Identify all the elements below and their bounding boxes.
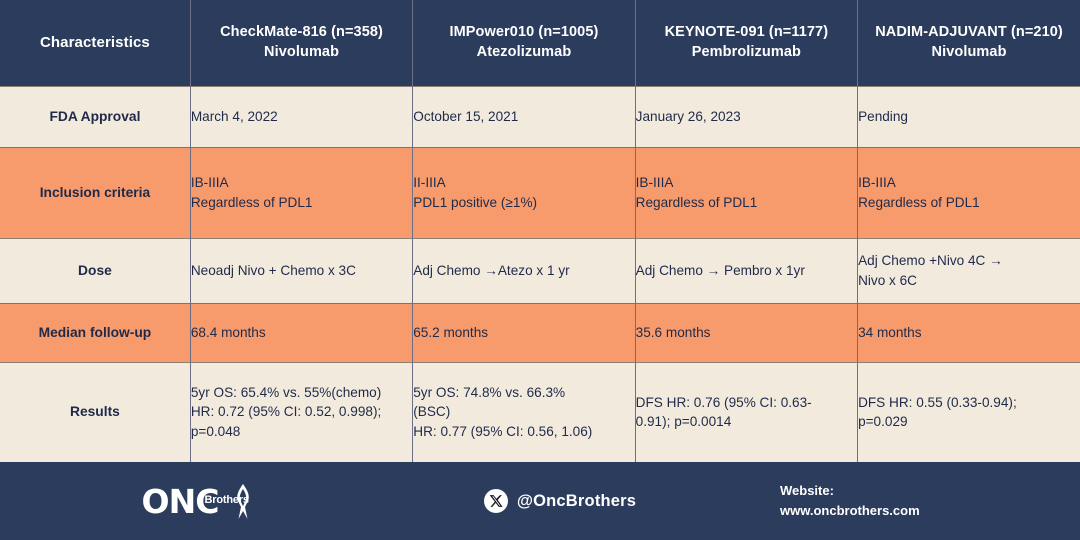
- cell-line: HR: 0.72 (95% CI: 0.52, 0.998);: [191, 402, 412, 422]
- x-twitter-icon[interactable]: [484, 489, 508, 513]
- cell-line: IB-IIIA: [858, 173, 1080, 193]
- header-line-2: Pembrolizumab: [636, 43, 857, 63]
- cell-line: p=0.029: [858, 412, 1080, 432]
- cell-line: Regardless of PDL1: [191, 193, 412, 213]
- table-row-dose: Dose Neoadj Nivo + Chemo x 3C Adj Chemo …: [0, 238, 1080, 303]
- footer-bar: ONC Brothers @OncBrothers Website: www: [0, 462, 1080, 540]
- cell-followup-impower010: 65.2 months: [413, 303, 635, 362]
- header-line-2: Atezolizumab: [413, 43, 634, 63]
- column-header-impower010: IMPower010 (n=1005) Atezolizumab: [413, 0, 635, 86]
- header-row: Characteristics CheckMate-816 (n=358) Ni…: [0, 0, 1080, 86]
- table-header: Characteristics CheckMate-816 (n=358) Ni…: [0, 0, 1080, 86]
- awareness-ribbon-icon: [230, 482, 256, 527]
- column-header-keynote-091: KEYNOTE-091 (n=1177) Pembrolizumab: [635, 0, 857, 86]
- cell-dose-keynote091: Adj Chemo → Pembro x 1yr: [635, 238, 857, 303]
- column-header-characteristics: Characteristics: [0, 0, 190, 86]
- cell-line: Adj Chemo +Nivo 4C →: [858, 251, 1080, 271]
- cell-results-impower010: 5yr OS: 74.8% vs. 66.3% (BSC) HR: 0.77 (…: [413, 362, 635, 462]
- cell-line: 5yr OS: 74.8% vs. 66.3%: [413, 383, 634, 403]
- cell-line: 68.4 months: [191, 323, 412, 343]
- cell-line: (BSC): [413, 402, 634, 422]
- comparison-table-infographic: Characteristics CheckMate-816 (n=358) Ni…: [0, 0, 1080, 540]
- cell-line: 35.6 months: [636, 323, 857, 343]
- header-line-2: Nivolumab: [858, 43, 1080, 63]
- header-line-1: Characteristics: [0, 33, 190, 53]
- cell-line: IB-IIIA: [636, 173, 857, 193]
- cell-inclusion-keynote091: IB-IIIA Regardless of PDL1: [635, 147, 857, 238]
- cell-line: Adj Chemo → Pembro x 1yr: [636, 261, 857, 281]
- row-label-inclusion-criteria: Inclusion criteria: [0, 147, 190, 238]
- oncbrothers-logo: ONC Brothers: [142, 481, 219, 521]
- cell-inclusion-impower010: II-IIIA PDL1 positive (≥1%): [413, 147, 635, 238]
- header-line-1: NADIM-ADJUVANT (n=210): [858, 23, 1080, 43]
- footer-website-area[interactable]: Website: www.oncbrothers.com: [760, 481, 1080, 521]
- cell-line: 5yr OS: 65.4% vs. 55%(chemo): [191, 383, 412, 403]
- cell-fda-impower010: October 15, 2021: [413, 86, 635, 147]
- cell-line: DFS HR: 0.55 (0.33-0.94);: [858, 393, 1080, 413]
- column-header-nadim-adjuvant: NADIM-ADJUVANT (n=210) Nivolumab: [858, 0, 1080, 86]
- cell-line: Adj Chemo →Atezo x 1 yr: [413, 261, 634, 281]
- cell-line: DFS HR: 0.76 (95% CI: 0.63-: [636, 393, 857, 413]
- cell-line: 0.91); p=0.0014: [636, 412, 857, 432]
- x-handle-text: @OncBrothers: [517, 492, 636, 511]
- footer-social-handle[interactable]: @OncBrothers: [360, 489, 760, 513]
- table-row-inclusion-criteria: Inclusion criteria IB-IIIA Regardless of…: [0, 147, 1080, 238]
- cell-line: PDL1 positive (≥1%): [413, 193, 634, 213]
- header-line-1: KEYNOTE-091 (n=1177): [636, 23, 857, 43]
- row-label-dose: Dose: [0, 238, 190, 303]
- cell-line: March 4, 2022: [191, 107, 412, 127]
- cell-inclusion-checkmate816: IB-IIIA Regardless of PDL1: [190, 147, 412, 238]
- cell-fda-checkmate816: March 4, 2022: [190, 86, 412, 147]
- table-row-median-follow-up: Median follow-up 68.4 months 65.2 months…: [0, 303, 1080, 362]
- cell-line: 65.2 months: [413, 323, 634, 343]
- website-label: Website:: [780, 481, 920, 501]
- header-line-2: Nivolumab: [191, 43, 412, 63]
- cell-line: p=0.048: [191, 422, 412, 442]
- row-label-results: Results: [0, 362, 190, 462]
- cell-line: IB-IIIA: [191, 173, 412, 193]
- row-label-median-follow-up: Median follow-up: [0, 303, 190, 362]
- table-row-results: Results 5yr OS: 65.4% vs. 55%(chemo) HR:…: [0, 362, 1080, 462]
- cell-fda-keynote091: January 26, 2023: [635, 86, 857, 147]
- cell-dose-nadim: Adj Chemo +Nivo 4C → Nivo x 6C: [858, 238, 1080, 303]
- header-line-1: CheckMate-816 (n=358): [191, 23, 412, 43]
- cell-followup-keynote091: 35.6 months: [635, 303, 857, 362]
- cell-followup-checkmate816: 68.4 months: [190, 303, 412, 362]
- cell-followup-nadim: 34 months: [858, 303, 1080, 362]
- cell-fda-nadim: Pending: [858, 86, 1080, 147]
- cell-results-checkmate816: 5yr OS: 65.4% vs. 55%(chemo) HR: 0.72 (9…: [190, 362, 412, 462]
- cell-line: 34 months: [858, 323, 1080, 343]
- cell-results-nadim: DFS HR: 0.55 (0.33-0.94); p=0.029: [858, 362, 1080, 462]
- cell-line: Regardless of PDL1: [636, 193, 857, 213]
- cell-line: Nivo x 6C: [858, 271, 1080, 291]
- cell-line: January 26, 2023: [636, 107, 857, 127]
- cell-line: Neoadj Nivo + Chemo x 3C: [191, 261, 412, 281]
- cell-line: II-IIIA: [413, 173, 634, 193]
- cell-dose-checkmate816: Neoadj Nivo + Chemo x 3C: [190, 238, 412, 303]
- trials-comparison-table: Characteristics CheckMate-816 (n=358) Ni…: [0, 0, 1080, 462]
- row-label-fda-approval: FDA Approval: [0, 86, 190, 147]
- cell-dose-impower010: Adj Chemo →Atezo x 1 yr: [413, 238, 635, 303]
- table-row-fda-approval: FDA Approval March 4, 2022 October 15, 2…: [0, 86, 1080, 147]
- footer-logo-area: ONC Brothers: [0, 481, 360, 521]
- cell-line: Pending: [858, 107, 1080, 127]
- cell-line: Regardless of PDL1: [858, 193, 1080, 213]
- website-url[interactable]: www.oncbrothers.com: [780, 501, 920, 521]
- cell-inclusion-nadim: IB-IIIA Regardless of PDL1: [858, 147, 1080, 238]
- cell-results-keynote091: DFS HR: 0.76 (95% CI: 0.63- 0.91); p=0.0…: [635, 362, 857, 462]
- header-line-1: IMPower010 (n=1005): [413, 23, 634, 43]
- table-body: FDA Approval March 4, 2022 October 15, 2…: [0, 86, 1080, 462]
- cell-line: HR: 0.77 (95% CI: 0.56, 1.06): [413, 422, 634, 442]
- cell-line: October 15, 2021: [413, 107, 634, 127]
- column-header-checkmate-816: CheckMate-816 (n=358) Nivolumab: [190, 0, 412, 86]
